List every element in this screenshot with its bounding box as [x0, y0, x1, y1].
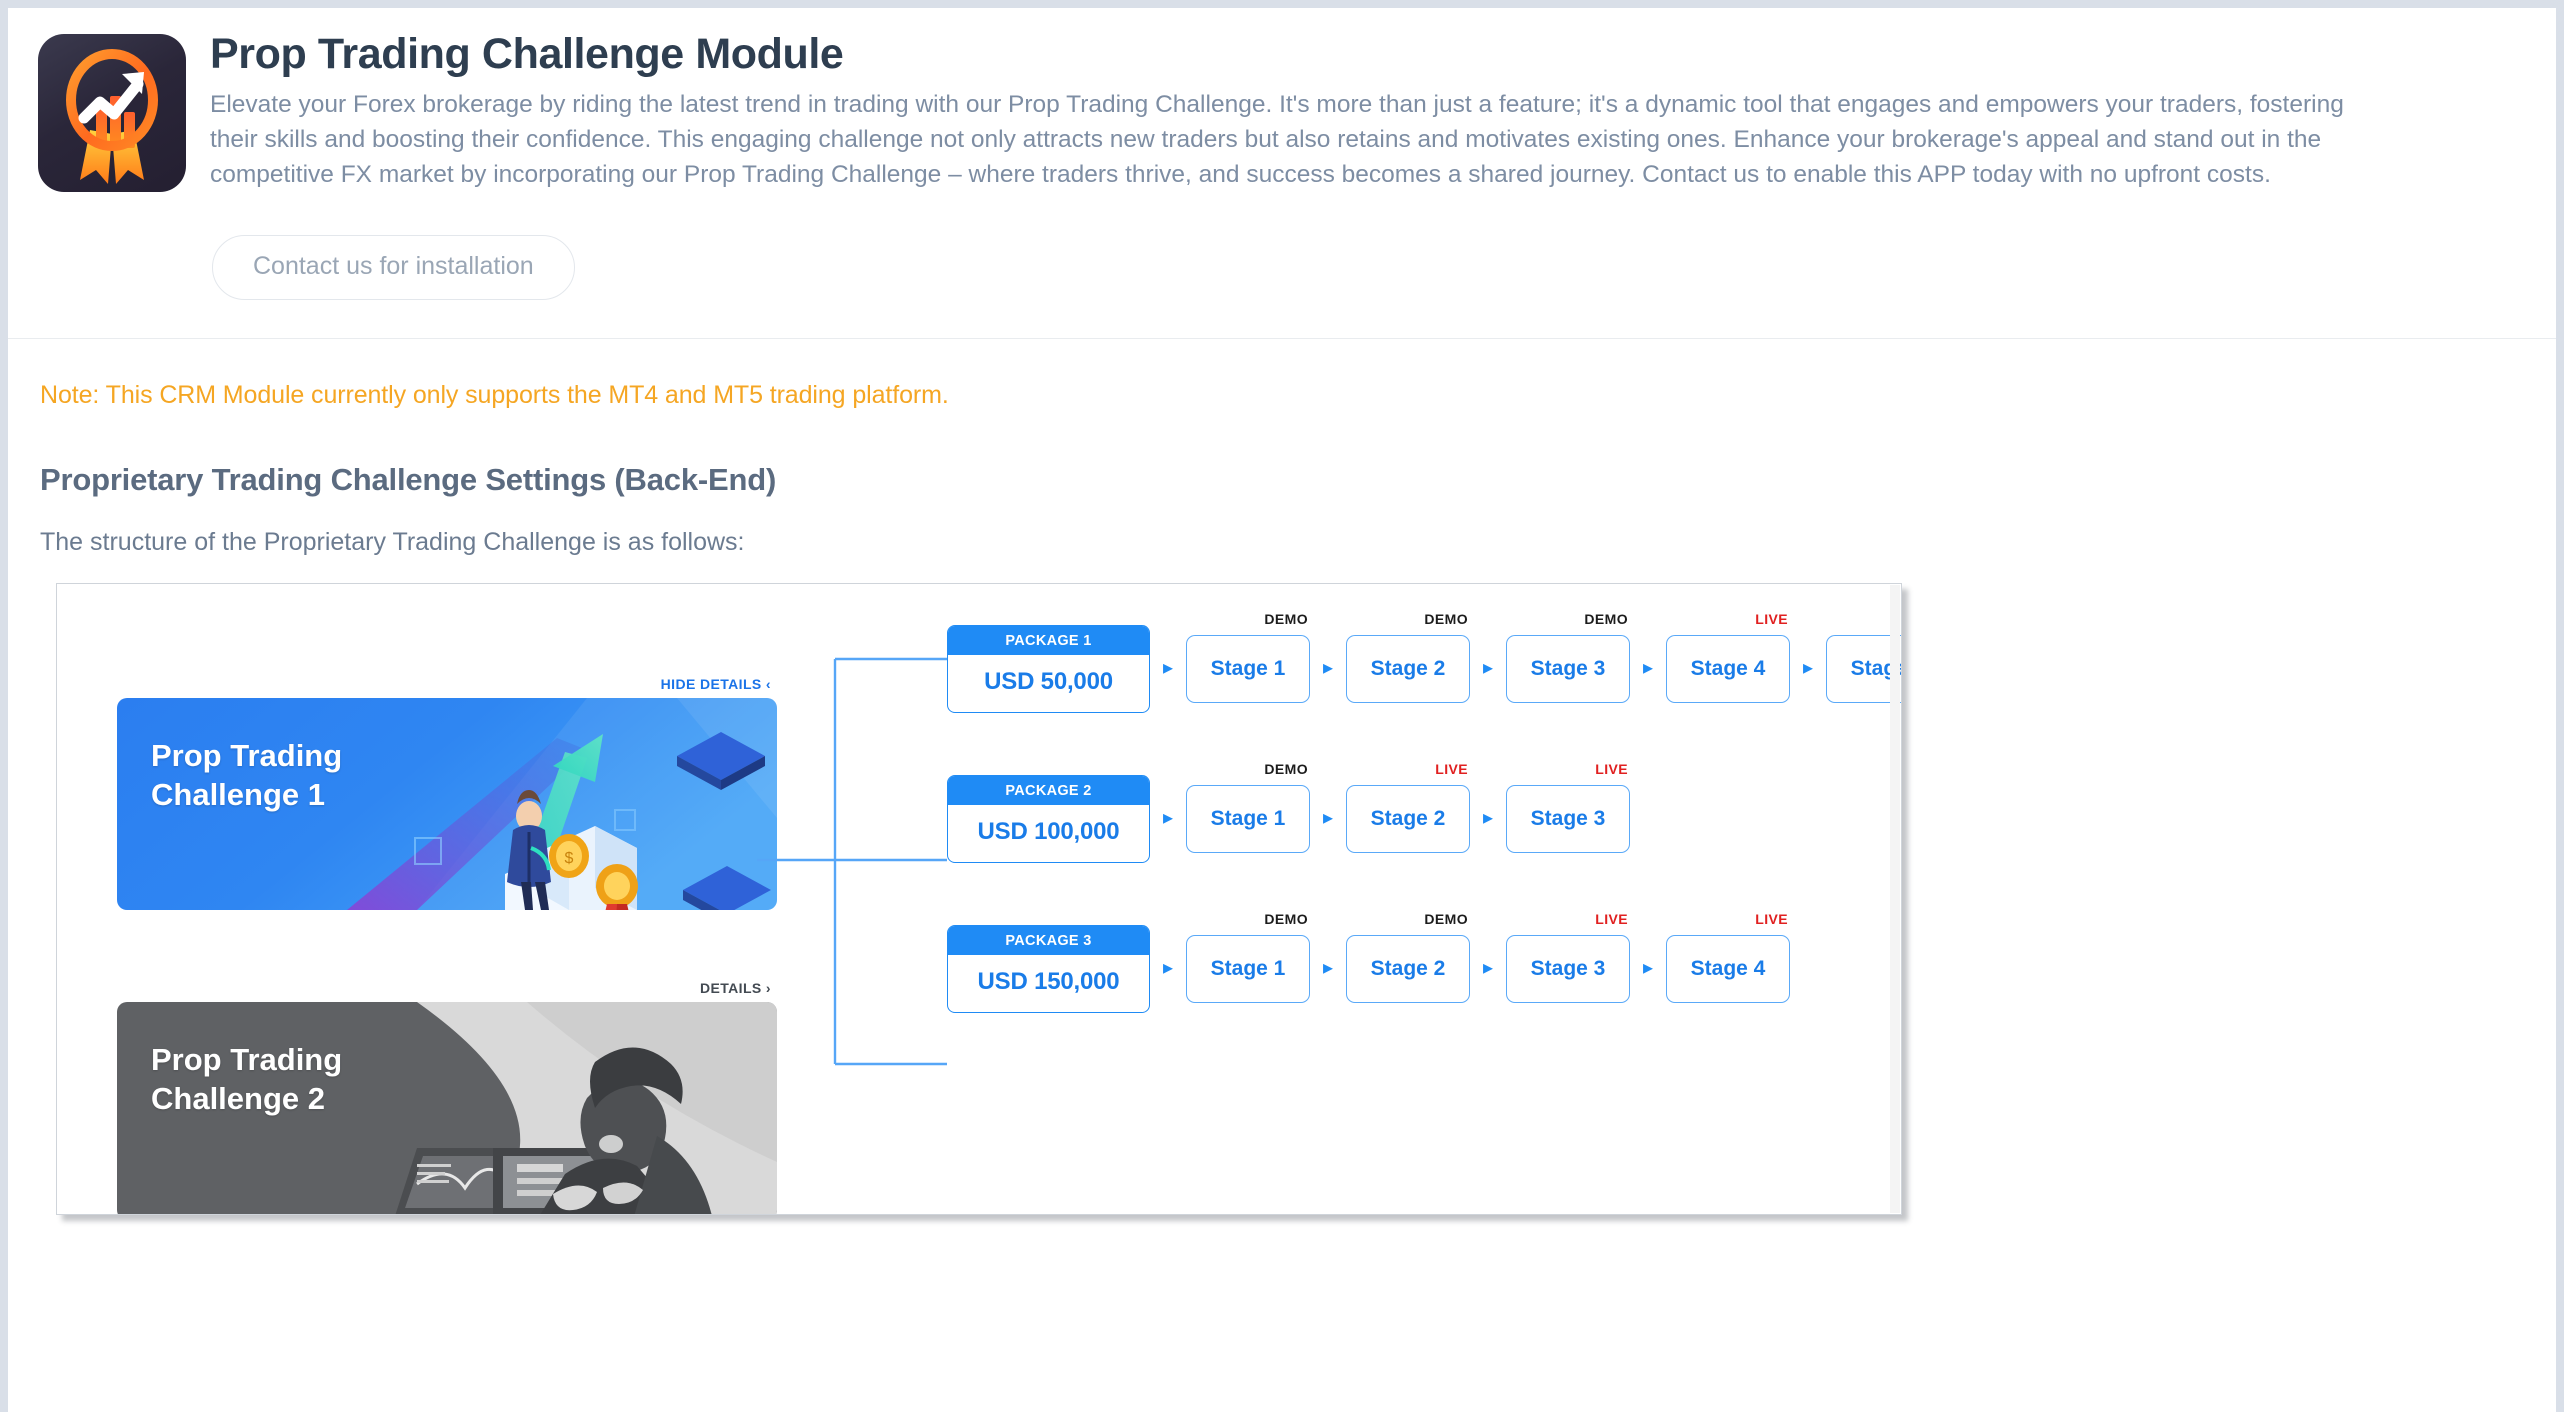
stage-tag: DEMO	[1264, 611, 1308, 627]
stage-tag: LIVE	[1595, 761, 1628, 777]
stage-item[interactable]: DEMO Stage 2	[1346, 935, 1470, 1003]
page-title: Prop Trading Challenge Module	[210, 30, 2526, 78]
flow-arrow-icon: ▸	[1470, 808, 1506, 830]
challenge-card-1-title: Prop TradingChallenge 1	[151, 736, 342, 814]
platform-support-note: Note: This CRM Module currently only sup…	[8, 339, 2556, 410]
stage-label[interactable]: Stage 2	[1346, 785, 1470, 853]
stage-item[interactable]: LIVE Stage 4	[1666, 935, 1790, 1003]
stage-item[interactable]: LIVE Stage 4	[1666, 635, 1790, 703]
challenge-card-2-title: Prop TradingChallenge 2	[151, 1040, 342, 1118]
stage-tag: LIVE	[1755, 611, 1788, 627]
package-label: PACKAGE 3	[948, 926, 1149, 955]
flow-row-package-1: PACKAGE 1 USD 50,000 ▸ DEMO Stage 1 ▸ DE…	[947, 624, 1902, 714]
diagram-vertical-scrollbar[interactable]	[1890, 585, 1900, 1213]
stage-item[interactable]: DEMO Stage 1	[1186, 635, 1310, 703]
challenge-block-2: DETAILS ›	[117, 980, 777, 1215]
stage-label[interactable]: Stage 3	[1506, 935, 1630, 1003]
stage-label[interactable]: Stage 3	[1506, 785, 1630, 853]
show-details-toggle[interactable]: DETAILS ›	[117, 980, 777, 1002]
install-button-row: Contact us for installation	[210, 193, 2526, 300]
stage-item[interactable]: DEMO Stage 1	[1186, 935, 1310, 1003]
flow-row-package-2: PACKAGE 2 USD 100,000 ▸ DEMO Stage 1 ▸ L…	[947, 774, 1630, 864]
challenge-cards-column: HIDE DETAILS ‹	[71, 584, 771, 1214]
flow-arrow-icon: ▸	[1630, 658, 1666, 680]
package-stage-rows: PACKAGE 1 USD 50,000 ▸ DEMO Stage 1 ▸ DE…	[947, 584, 1901, 1214]
stage-label[interactable]: Stage 2	[1346, 635, 1470, 703]
structure-diagram-container: HIDE DETAILS ‹	[56, 583, 1914, 1223]
stage-item[interactable]: DEMO Stage 3	[1506, 635, 1630, 703]
challenge-block-1: HIDE DETAILS ‹	[117, 676, 777, 910]
flow-row-package-3: PACKAGE 3 USD 150,000 ▸ DEMO Stage 1 ▸ D…	[947, 924, 1790, 1014]
stage-label[interactable]: Stage 1	[1186, 935, 1310, 1003]
package-box-2[interactable]: PACKAGE 2 USD 100,000	[947, 775, 1150, 863]
challenge-card-2[interactable]: Prop TradingChallenge 2	[117, 1002, 777, 1215]
flow-arrow-icon: ▸	[1630, 958, 1666, 980]
flow-arrow-icon: ▸	[1150, 958, 1186, 980]
stage-tag: LIVE	[1435, 761, 1468, 777]
stage-tag: LIVE	[1755, 911, 1788, 927]
flow-arrow-icon: ▸	[1310, 808, 1346, 830]
stage-tag: DEMO	[1424, 611, 1468, 627]
settings-section-subtitle: The structure of the Proprietary Trading…	[8, 498, 2556, 557]
flow-arrow-icon: ▸	[1310, 658, 1346, 680]
module-hero: Prop Trading Challenge Module Elevate yo…	[8, 8, 2556, 300]
stage-item[interactable]: LIVE Stage 3	[1506, 785, 1630, 853]
stage-tag: LIVE	[1595, 911, 1628, 927]
contact-us-for-installation-button[interactable]: Contact us for installation	[212, 235, 575, 300]
flow-arrow-icon: ▸	[1310, 958, 1346, 980]
stage-item[interactable]: LIVE Stage 2	[1346, 785, 1470, 853]
challenge-card-1[interactable]: $ Prop Tra	[117, 698, 777, 910]
module-hero-text: Prop Trading Challenge Module Elevate yo…	[186, 30, 2526, 300]
stage-label[interactable]: Stage 4	[1666, 935, 1790, 1003]
flow-arrow-icon: ▸	[1470, 658, 1506, 680]
package-label: PACKAGE 2	[948, 776, 1149, 805]
stage-tag: DEMO	[1264, 911, 1308, 927]
stage-label[interactable]: Stage 3	[1506, 635, 1630, 703]
package-amount: USD 100,000	[948, 805, 1149, 862]
flow-arrow-icon: ▸	[1150, 808, 1186, 830]
stage-label[interactable]: Stage 1	[1186, 785, 1310, 853]
package-box-3[interactable]: PACKAGE 3 USD 150,000	[947, 925, 1150, 1013]
settings-section-heading: Proprietary Trading Challenge Settings (…	[8, 410, 2556, 498]
structure-diagram-panel: HIDE DETAILS ‹	[56, 583, 1902, 1215]
stage-label[interactable]: Stage 1	[1186, 635, 1310, 703]
prop-trading-medal-chart-icon	[38, 34, 186, 192]
module-page-card: Prop Trading Challenge Module Elevate yo…	[8, 8, 2556, 1412]
package-box-1[interactable]: PACKAGE 1 USD 50,000	[947, 625, 1150, 713]
stage-tag: DEMO	[1424, 911, 1468, 927]
svg-text:$: $	[565, 850, 574, 867]
stage-item[interactable]: DEMO Stage 2	[1346, 635, 1470, 703]
stage-tag: DEMO	[1264, 761, 1308, 777]
module-description: Elevate your Forex brokerage by riding t…	[210, 88, 2380, 192]
hide-details-toggle[interactable]: HIDE DETAILS ‹	[117, 676, 777, 698]
package-amount: USD 150,000	[948, 955, 1149, 1012]
package-amount: USD 50,000	[948, 655, 1149, 712]
flow-arrow-icon: ▸	[1790, 658, 1826, 680]
stage-label[interactable]: Stage 4	[1666, 635, 1790, 703]
stage-tag: DEMO	[1584, 611, 1628, 627]
stage-item[interactable]: LIVE Stage 3	[1506, 935, 1630, 1003]
flow-arrow-icon: ▸	[1150, 658, 1186, 680]
stage-item[interactable]: DEMO Stage 1	[1186, 785, 1310, 853]
package-label: PACKAGE 1	[948, 626, 1149, 655]
stage-label[interactable]: Stage 2	[1346, 935, 1470, 1003]
flow-arrow-icon: ▸	[1470, 958, 1506, 980]
